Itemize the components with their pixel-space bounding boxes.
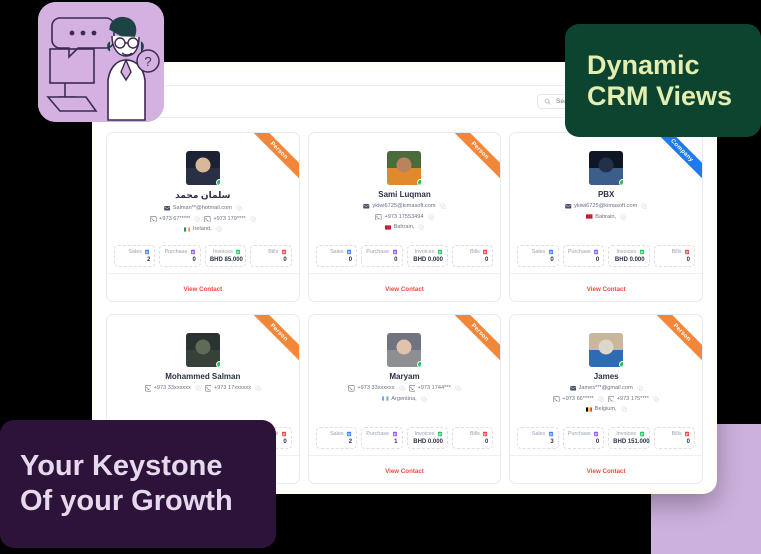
stat-bills-value: 0 [255,257,286,263]
cart-icon [548,249,554,255]
online-status-dot [417,361,421,367]
contact-card[interactable]: PersonMaryam+973 33xxxxxx+973 1744***Arg… [308,314,502,484]
mail-icon [164,205,171,212]
stat-purchase-label: Purchase [366,431,389,437]
copy-icon[interactable] [421,396,427,402]
contact-stats: Sales2Purchase0InvoicesBHD 85.000Bills0 [107,245,299,267]
promo-purple-line-2: Of your Growth [20,484,256,519]
copy-icon[interactable] [194,216,200,222]
stat-sales-header: Sales [321,249,352,255]
invoice-icon [437,431,443,437]
avatar[interactable] [387,151,421,185]
bill-icon [684,431,690,437]
cart-icon [346,431,352,437]
contact-phone-text: +973 33xxxxxx [154,385,191,391]
stat-purchase-label: Purchase [165,249,188,255]
stat-invoices-header: Invoices [412,431,443,437]
online-status-dot [619,179,623,185]
phone-icon [150,216,157,223]
avatar-image [589,151,623,185]
copy-icon[interactable] [455,385,461,391]
online-status-dot [417,179,421,185]
copy-icon[interactable] [620,214,626,220]
stat-bills-label: Bills [268,249,278,255]
bill-icon [684,249,690,255]
stat-bills-header: Bills [457,431,488,437]
contact-phone[interactable]: +973 179**** [204,216,245,223]
contact-stats: Sales2Purchase1InvoicesBHD 0.000Bills0 [309,427,501,449]
copy-icon[interactable] [250,216,256,222]
contact-phone-row: +973 33xxxxxx+973 17xxxxxx [107,385,299,392]
bill-icon [281,431,287,437]
contact-card[interactable]: PersonSami Luqmanykiwi6725@kimasoft.com+… [308,132,502,302]
poster-stage: ? / Contacts [0,0,761,554]
contact-phone[interactable]: +973 33xxxxxx [145,385,191,392]
stat-bills[interactable]: Bills0 [452,427,493,449]
avatar-wrapper [107,151,299,185]
stat-sales-value: 3 [522,439,553,445]
contact-phone[interactable]: +973 66***** [553,396,593,403]
bag-icon [190,249,196,255]
invoice-icon [437,249,443,255]
contact-name: Maryam [309,372,501,381]
stat-purchase[interactable]: Purchase0 [563,245,604,267]
promo-green-line-1: Dynamic [587,50,739,81]
contact-country-row: Belgium, [510,406,702,412]
copy-icon[interactable] [598,396,604,402]
invoice-icon [235,249,241,255]
support-illustration: ? [38,2,164,122]
promo-green-line-2: CRM Views [587,81,739,112]
contact-phone-text: +973 179**** [213,216,245,222]
stat-invoices-label: Invoices [415,249,435,255]
avatar[interactable] [186,151,220,185]
stat-invoices-header: Invoices [613,431,644,437]
avatar-image [387,333,421,367]
stat-bills[interactable]: Bills0 [452,245,493,267]
stat-purchase-header: Purchase [366,431,397,437]
contact-phone[interactable]: +973 17553494 [375,214,423,221]
stat-purchase-header: Purchase [568,431,599,437]
stat-purchase-label: Purchase [568,431,591,437]
avatar-wrapper [309,151,501,185]
stat-invoices-label: Invoices [616,431,636,437]
country-flag-icon [184,227,191,232]
country-flag-icon [385,225,392,230]
contact-name: James [510,372,702,381]
stat-sales-value: 2 [321,439,352,445]
contact-phone-text: +973 1744*** [418,385,451,391]
card-footer: View Contact [510,455,702,483]
stat-sales[interactable]: Sales3 [517,427,558,449]
country-flag-icon [586,407,593,412]
avatar-image [589,333,623,367]
contact-stats: Sales3Purchase0InvoicesBHD 151.000Bills0 [510,427,702,449]
online-status-dot [619,361,623,367]
card-footer: View Contact [510,273,702,301]
contact-email-text: ykiwi6725@kimasoft.com [574,203,637,209]
stat-bills-label: Bills [470,249,480,255]
bill-icon [482,431,488,437]
cart-icon [144,249,150,255]
stat-sales-value: 0 [321,257,352,263]
invoice-icon [639,431,645,437]
stat-invoices-value: BHD 151.000 [613,439,644,445]
contact-phone-row: +973 67*****+973 179**** [107,216,299,223]
stat-purchase-label: Purchase [366,249,389,255]
contact-phone-text: +973 17553494 [384,214,423,220]
contact-email[interactable]: ykiwi6725@kimasoft.com [565,203,637,210]
stat-purchase-value: 0 [366,257,397,263]
contact-country: Belgium, [586,406,617,412]
stat-bills-value: 0 [457,257,488,263]
copy-icon[interactable] [195,385,201,391]
avatar[interactable] [387,333,421,367]
contact-country-text: Belgium, [595,406,617,412]
contact-country-text: Bahrain, [595,214,616,220]
bag-icon [392,249,398,255]
stat-purchase-header: Purchase [164,249,195,255]
mail-icon [565,203,572,210]
contact-phone[interactable]: +973 1744*** [409,385,451,392]
contact-country-text: Bahrain, [394,224,415,230]
contact-country-row: Bahrain, [510,214,702,220]
search-icon [544,98,551,105]
card-footer: View Contact [309,455,501,483]
phone-icon [348,385,355,392]
stat-purchase[interactable]: Purchase0 [563,427,604,449]
phone-icon [553,396,560,403]
card-footer: View Contact [309,273,501,301]
svg-text:?: ? [144,54,151,69]
copy-icon[interactable] [653,396,659,402]
stat-purchase-value: 1 [366,439,397,445]
stat-invoices[interactable]: InvoicesBHD 0.000 [407,427,448,449]
avatar[interactable] [186,333,220,367]
online-status-dot [216,361,220,367]
view-contact-link[interactable]: View Contact [587,286,626,293]
contact-phone[interactable]: +973 17xxxxxx [205,385,251,392]
copy-icon[interactable] [255,385,261,391]
stat-invoices[interactable]: InvoicesBHD 151.000 [608,427,649,449]
avatar-image [186,151,220,185]
stat-purchase[interactable]: Purchase0 [361,245,402,267]
contact-name: PBX [510,190,702,199]
stat-purchase-value: 0 [164,257,195,263]
stat-purchase-value: 0 [568,257,599,263]
copy-icon[interactable] [216,226,222,232]
stat-bills-header: Bills [255,249,286,255]
contact-country-row: Bahrain, [309,224,501,230]
country-flag-icon [382,396,389,401]
contact-name: سلمان محمد [107,190,299,201]
contact-phone-text: +973 175**** [617,396,649,402]
contact-name: Sami Luqman [309,190,501,199]
stat-purchase-header: Purchase [366,249,397,255]
copy-icon[interactable] [641,203,647,209]
online-status-dot [216,179,220,185]
stat-bills-header: Bills [659,249,690,255]
contact-email[interactable]: Salman**@hotmail.com [164,205,232,212]
copy-icon[interactable] [428,214,434,220]
contact-stats: Sales0Purchase0InvoicesBHD 0.000Bills0 [510,245,702,267]
contact-email-text: ykiwi6725@kimasoft.com [372,203,435,209]
stat-invoices-label: Invoices [415,431,435,437]
contact-email[interactable]: James***@gmail.com [570,385,633,392]
stat-bills[interactable]: Bills0 [654,427,695,449]
copy-icon[interactable] [621,406,627,412]
stat-bills-label: Bills [672,249,682,255]
stat-invoices-value: BHD 0.000 [412,439,443,445]
contact-email-row: ykiwi6725@kimasoft.com [510,203,702,210]
contact-country: Bahrain, [385,224,415,230]
stat-sales-value: 0 [522,257,553,263]
stat-bills-label: Bills [470,431,480,437]
avatar[interactable] [589,333,623,367]
stat-invoices[interactable]: InvoicesBHD 0.000 [407,245,448,267]
contact-email-row: James***@gmail.com [510,385,702,392]
promo-badge-your-keystone: Your Keystone Of your Growth [0,420,276,548]
stat-bills-value: 0 [659,439,690,445]
contact-country: Ireland, [184,226,212,232]
view-contact-link[interactable]: View Contact [385,286,424,293]
stat-sales-value: 2 [119,257,150,263]
copy-icon[interactable] [637,385,643,391]
stat-invoices-value: BHD 85.000 [210,257,241,263]
stat-invoices-header: Invoices [613,249,644,255]
phone-icon [204,216,211,223]
stat-purchase-header: Purchase [568,249,599,255]
bag-icon [593,431,599,437]
stat-sales[interactable]: Sales2 [316,427,357,449]
view-contact-link[interactable]: View Contact [183,286,222,293]
stat-bills-label: Bills [672,431,682,437]
promo-badge-dynamic-crm-views: Dynamic CRM Views [565,24,761,137]
copy-icon[interactable] [236,205,242,211]
copy-icon[interactable] [418,224,424,230]
copy-icon[interactable] [440,203,446,209]
contact-country-row: Ireland, [107,226,299,232]
copy-icon[interactable] [399,385,405,391]
avatar[interactable] [589,151,623,185]
view-contact-link[interactable]: View Contact [385,468,424,475]
phone-icon [145,385,152,392]
stat-invoices[interactable]: InvoicesBHD 85.000 [205,245,246,267]
contact-phone[interactable]: +973 33xxxxxx [348,385,394,392]
card-footer: View Contact [107,273,299,301]
stat-sales-header: Sales [522,431,553,437]
contact-email[interactable]: ykiwi6725@kimasoft.com [363,203,435,210]
contact-email-text: James***@gmail.com [579,385,633,391]
stat-bills-header: Bills [457,249,488,255]
bill-icon [482,249,488,255]
contact-phone-row: +973 66*****+973 175**** [510,396,702,403]
contact-phone-text: +973 67***** [159,216,190,222]
contact-phone-text: +973 17xxxxxx [214,385,251,391]
stat-sales-label: Sales [532,249,546,255]
phone-icon [205,385,212,392]
stat-sales-label: Sales [330,249,344,255]
phone-icon [608,396,615,403]
contact-phone[interactable]: +973 175**** [608,396,649,403]
stat-invoices-value: BHD 0.000 [412,257,443,263]
stat-bills[interactable]: Bills0 [250,245,291,267]
stat-invoices-label: Invoices [616,249,636,255]
mail-icon [363,203,370,210]
invoice-icon [639,249,645,255]
contact-country-row: Argentina, [309,396,501,402]
phone-icon [375,214,382,221]
avatar-wrapper [309,333,501,367]
avatar-wrapper [107,333,299,367]
avatar-wrapper [510,333,702,367]
country-flag-icon [586,214,593,219]
stat-sales[interactable]: Sales2 [114,245,155,267]
stat-sales-label: Sales [532,431,546,437]
stat-invoices[interactable]: InvoicesBHD 0.000 [608,245,649,267]
stat-purchase-value: 0 [568,439,599,445]
contact-phone[interactable]: +973 67***** [150,216,190,223]
stat-sales-header: Sales [119,249,150,255]
phone-icon [409,385,416,392]
contact-card[interactable]: CompanyPBXykiwi6725@kimasoft.comBahrain,… [509,132,703,302]
contact-phone-text: +973 33xxxxxx [357,385,394,391]
contact-phone-text: +973 66***** [562,396,593,402]
contact-country-text: Argentina, [391,396,417,402]
stat-sales-header: Sales [522,249,553,255]
avatar-wrapper [510,151,702,185]
stat-invoices-value: BHD 0.000 [613,257,644,263]
stat-purchase-label: Purchase [568,249,591,255]
stat-sales-label: Sales [128,249,142,255]
stat-sales-label: Sales [330,431,344,437]
contact-email-text: Salman**@hotmail.com [173,205,232,211]
contact-phone-row: +973 17553494 [309,214,501,221]
contact-name: Mohammed Salman [107,372,299,381]
view-contact-link[interactable]: View Contact [587,468,626,475]
bag-icon [392,431,398,437]
stat-bills-value: 0 [457,439,488,445]
avatar-image [387,151,421,185]
stat-sales[interactable]: Sales0 [517,245,558,267]
contact-country-text: Ireland, [193,226,212,232]
promo-purple-line-1: Your Keystone [20,449,256,484]
contact-country: Argentina, [382,396,417,402]
bag-icon [593,249,599,255]
cart-icon [548,431,554,437]
stat-bills-header: Bills [659,431,690,437]
stat-sales[interactable]: Sales0 [316,245,357,267]
contact-email-row: ykiwi6725@kimasoft.com [309,203,501,210]
contact-phone-row: +973 33xxxxxx+973 1744*** [309,385,501,392]
contact-card[interactable]: PersonJamesJames***@gmail.com+973 66****… [509,314,703,484]
contact-country: Bahrain, [586,214,616,220]
stat-sales-header: Sales [321,431,352,437]
cart-icon [346,249,352,255]
stat-invoices-header: Invoices [210,249,241,255]
stat-invoices-header: Invoices [412,249,443,255]
bill-icon [281,249,287,255]
avatar-image [186,333,220,367]
stat-purchase[interactable]: Purchase1 [361,427,402,449]
contact-stats: Sales0Purchase0InvoicesBHD 0.000Bills0 [309,245,501,267]
stat-purchase[interactable]: Purchase0 [159,245,200,267]
contact-card[interactable]: Personسلمان محمدSalman**@hotmail.com+973… [106,132,300,302]
contact-email-row: Salman**@hotmail.com [107,205,299,212]
mail-icon [570,385,577,392]
stat-bills[interactable]: Bills0 [654,245,695,267]
stat-invoices-label: Invoices [213,249,233,255]
stat-bills-value: 0 [659,257,690,263]
